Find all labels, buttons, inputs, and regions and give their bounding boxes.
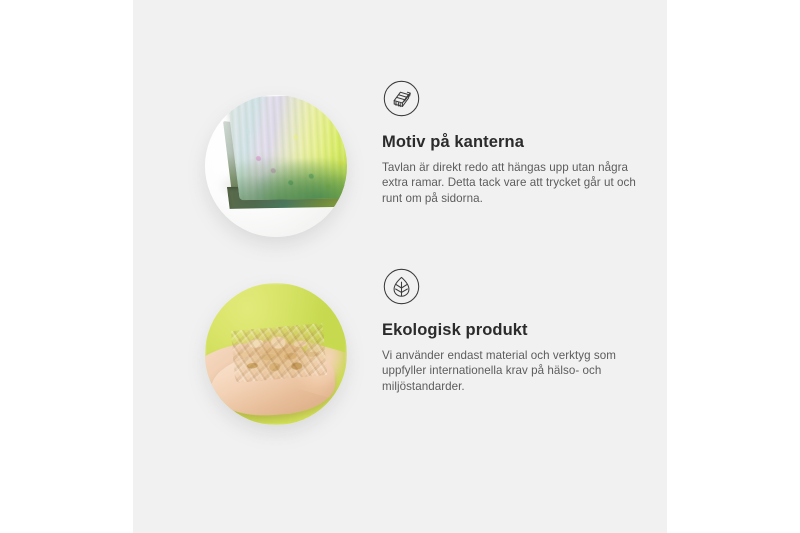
wood-chips [231,323,327,383]
hands-photo-content [205,283,347,425]
hands-holding-wood-chips-photo [205,283,347,425]
canvas-front-face [227,95,347,200]
feature-text-edges: Motiv på kanterna Tavlan är direkt redo … [382,80,650,207]
feature-title: Ekologisk produkt [382,321,650,341]
feature-text-eco: Ekologisk produkt Vi använder endast mat… [382,268,650,395]
feature-title: Motiv på kanterna [382,133,650,153]
feature-description: Vi använder endast material och verktyg … [382,348,650,395]
canvas-artwork [227,95,347,200]
feature-description: Tavlan är direkt redo att hängas upp uta… [382,160,650,207]
product-feature-page: Motiv på kanterna Tavlan är direkt redo … [0,0,800,533]
wrapped-canvas-edge-icon [383,80,420,117]
content-panel: Motiv på kanterna Tavlan är direkt redo … [133,0,667,533]
canvas-photo-background [205,95,347,237]
canvas-print-corner-photo [205,95,347,237]
leaf-icon [383,268,420,305]
